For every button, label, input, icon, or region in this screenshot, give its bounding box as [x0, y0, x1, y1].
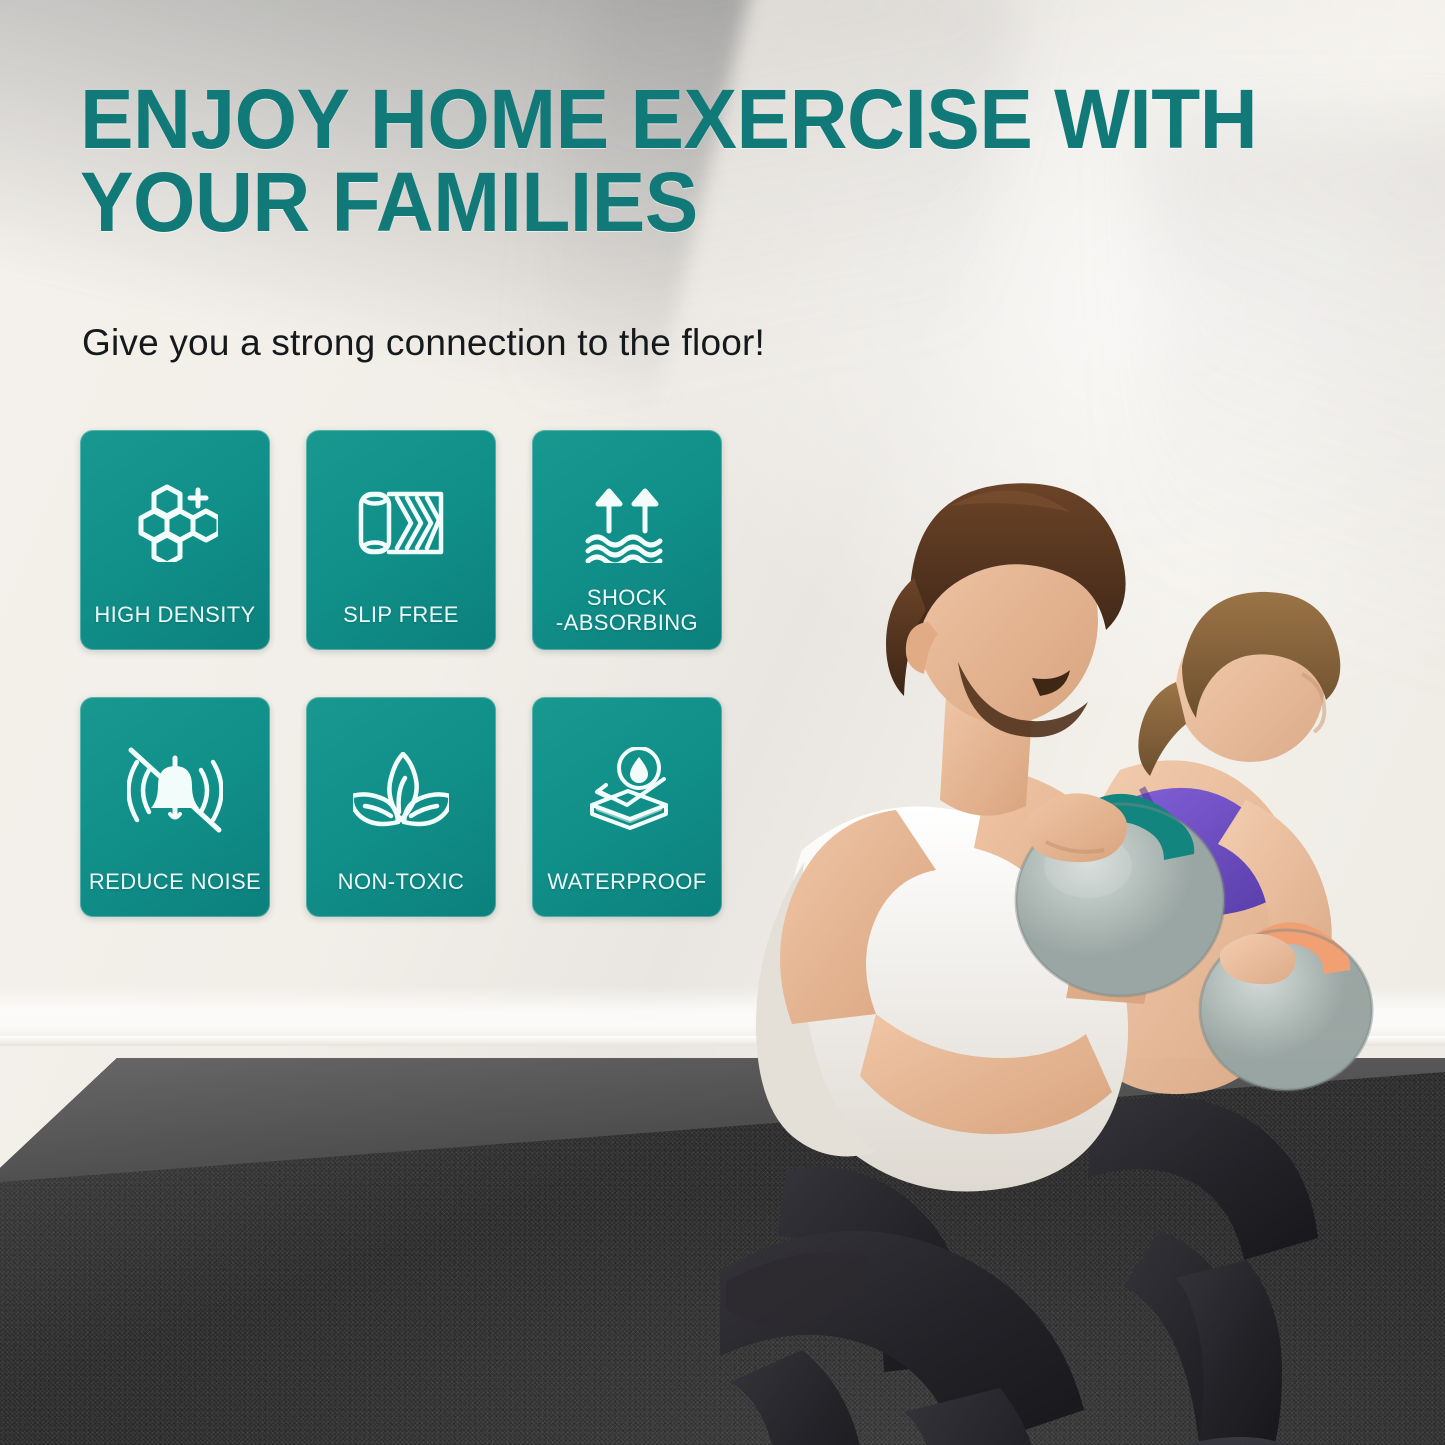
feature-tile-high-density[interactable]: HIGH DENSITY [80, 430, 270, 650]
headline-line-2: YOUR FAMILIES [80, 161, 1331, 244]
feature-label: NON-TOXIC [306, 869, 496, 895]
feature-tile-grid: HIGH DENSITY SLIP FREE [80, 430, 722, 917]
subtitle: Give you a strong connection to the floo… [82, 322, 765, 364]
feature-label: HIGH DENSITY [80, 602, 270, 628]
feature-tile-slip-free[interactable]: SLIP FREE [306, 430, 496, 650]
feature-label: SLIP FREE [306, 602, 496, 628]
feature-label-line-2: -ABSORBING [532, 610, 722, 636]
headline-line-1: ENJOY HOME EXERCISE WITH [80, 78, 1331, 161]
droplet-repel-mat-icon [580, 731, 674, 849]
page-title: ENJOY HOME EXERCISE WITH YOUR FAMILIES [80, 78, 1331, 244]
feature-label: WATERPROOF [532, 869, 722, 895]
rolled-mat-icon [355, 464, 447, 582]
feature-tile-waterproof[interactable]: WATERPROOF [532, 697, 722, 917]
bell-muted-icon [127, 731, 223, 849]
feature-label-line-1: SHOCK [532, 585, 722, 611]
feature-tile-shock-absorbing[interactable]: SHOCK -ABSORBING [532, 430, 722, 650]
feature-label: REDUCE NOISE [80, 869, 270, 895]
feature-label: SHOCK -ABSORBING [532, 585, 722, 636]
honeycomb-plus-icon [132, 464, 218, 582]
leaves-icon [353, 731, 449, 849]
arrows-waves-icon [583, 464, 671, 582]
photo-people-squatting [690, 470, 1445, 1445]
product-marketing-image: ENJOY HOME EXERCISE WITH YOUR FAMILIES G… [0, 0, 1445, 1445]
feature-tile-non-toxic[interactable]: NON-TOXIC [306, 697, 496, 917]
feature-tile-reduce-noise[interactable]: REDUCE NOISE [80, 697, 270, 917]
